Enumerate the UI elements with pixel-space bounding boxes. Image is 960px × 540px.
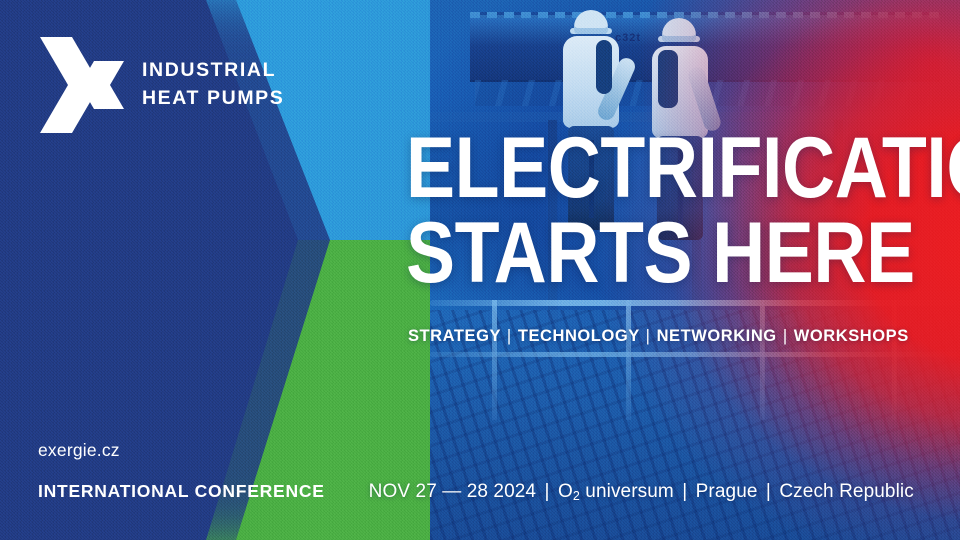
venue-name: O2 universum — [558, 481, 674, 502]
venue-name-subscript: 2 — [573, 489, 580, 503]
event-city: Prague — [696, 481, 758, 502]
foreground-layer: INDUSTRIAL HEAT PUMPS ELECTRIFICATION ST… — [0, 0, 960, 540]
brand-name-line1: INDUSTRIAL — [142, 57, 284, 85]
footer-bar: INTERNATIONAL CONFERENCE NOV 27 — 28 202… — [38, 481, 930, 503]
event-type-label: INTERNATIONAL CONFERENCE — [38, 481, 325, 502]
topic-workshops: WORKSHOPS — [794, 327, 909, 345]
headline-line-2: STARTS HERE — [406, 213, 844, 294]
brand-name: INDUSTRIAL HEAT PUMPS — [142, 57, 284, 112]
topic-separator: | — [645, 327, 652, 345]
topic-separator: | — [506, 327, 513, 345]
headline-line-1: ELECTRIFICATION — [406, 128, 844, 209]
conference-banner: c32t — [0, 0, 960, 540]
venue-name-prefix: O — [558, 481, 573, 502]
topic-networking: NETWORKING — [657, 327, 777, 345]
detail-separator: | — [763, 481, 774, 502]
venue-name-suffix: universum — [580, 481, 674, 502]
detail-separator: | — [542, 481, 553, 502]
topic-separator: | — [782, 327, 789, 345]
website-link[interactable]: exergie.cz — [38, 440, 120, 461]
headline: ELECTRIFICATION STARTS HERE — [406, 128, 918, 294]
event-dates: NOV 27 — 28 2024 — [369, 481, 536, 502]
topic-strategy: STRATEGY — [408, 327, 501, 345]
topic-technology: TECHNOLOGY — [518, 327, 640, 345]
detail-separator: | — [679, 481, 690, 502]
event-details: NOV 27 — 28 2024 | O2 universum | Prague… — [369, 481, 914, 503]
brand-name-line2: HEAT PUMPS — [142, 85, 284, 113]
subtitle-topics: STRATEGY | TECHNOLOGY | NETWORKING | WOR… — [408, 327, 909, 346]
x-chevron-logo-mark — [38, 35, 126, 135]
event-country: Czech Republic — [779, 481, 913, 502]
brand-logo[interactable]: INDUSTRIAL HEAT PUMPS — [38, 35, 284, 135]
